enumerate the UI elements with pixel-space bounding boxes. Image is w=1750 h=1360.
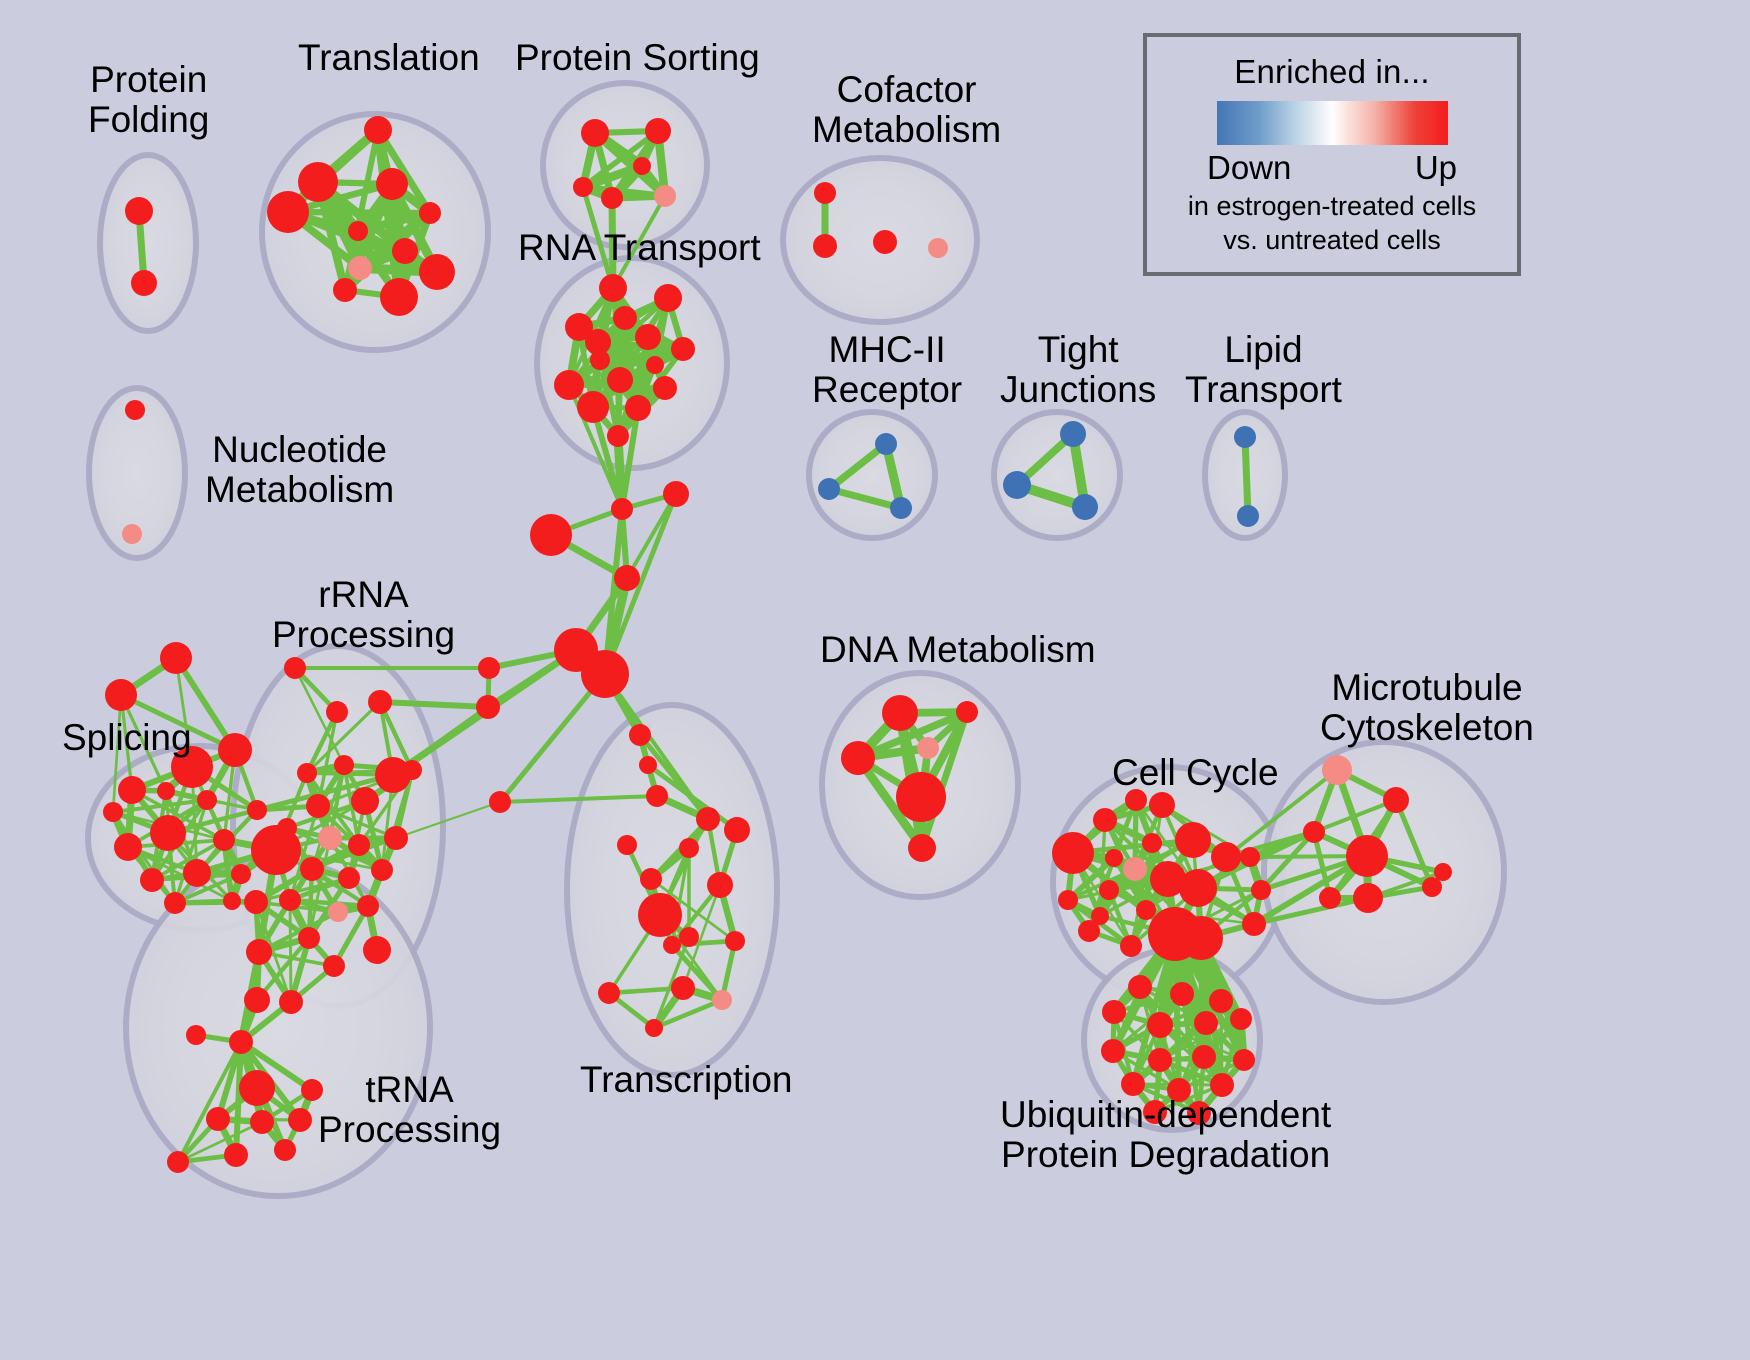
network-edge [1245,437,1248,516]
network-node[interactable] [213,829,235,851]
cluster-label-rrna-processing: rRNA Processing [272,575,455,655]
network-node[interactable] [1346,835,1388,877]
network-node[interactable] [1136,900,1156,920]
network-node[interactable] [244,890,268,914]
network-node[interactable] [167,1151,189,1173]
network-node[interactable] [348,256,372,280]
network-node[interactable] [1303,821,1325,843]
network-node[interactable] [150,815,186,851]
network-node[interactable] [1060,421,1086,447]
network-node[interactable] [645,118,671,144]
network-node[interactable] [653,376,677,400]
network-node[interactable] [707,872,733,898]
network-node[interactable] [250,1110,274,1134]
cluster-label-trna-processing: tRNA Processing [318,1070,501,1150]
network-node[interactable] [638,893,682,937]
network-node[interactable] [1242,912,1266,936]
legend-subtitle-line2: vs. untreated cells [1223,225,1441,255]
network-node[interactable] [633,157,651,175]
network-node[interactable] [223,892,241,910]
network-node[interactable] [246,939,272,965]
network-node[interactable] [371,859,393,881]
network-node[interactable] [581,650,629,698]
network-node[interactable] [1052,832,1094,874]
network-edge [288,212,430,213]
network-node[interactable] [363,936,391,964]
network-node[interactable] [1003,471,1031,499]
network-node[interactable] [679,838,699,858]
network-node[interactable] [274,1139,296,1161]
cluster-label-ubiquitin-protein-degradation: Ubiquitin-dependent Protein Degradation [1000,1095,1331,1175]
network-node[interactable] [1093,808,1117,832]
network-node[interactable] [229,1030,253,1054]
network-node[interactable] [1175,822,1211,858]
network-node[interactable] [814,182,836,204]
network-node[interactable] [1234,426,1256,448]
network-node[interactable] [654,185,676,207]
network-node[interactable] [279,990,303,1014]
network-node[interactable] [1128,975,1152,999]
network-node[interactable] [554,370,584,400]
network-node[interactable] [841,741,875,775]
network-node[interactable] [402,760,422,780]
legend-endpoint-labels: Down Up [1207,149,1457,187]
network-node[interactable] [357,895,379,917]
network-node[interactable] [478,657,500,679]
legend-panel: Enriched in... Down Up in estrogen-treat… [1143,33,1521,276]
network-node[interactable] [725,931,745,951]
network-node[interactable] [601,187,623,209]
cluster-label-nucleotide-metabolism: Nucleotide Metabolism [205,430,394,510]
network-node[interactable] [599,274,627,302]
network-node[interactable] [607,367,633,393]
network-node[interactable] [1147,1012,1173,1038]
network-node[interactable] [1102,1000,1126,1024]
network-node[interactable] [1353,883,1383,913]
network-node[interactable] [696,807,720,831]
cluster-hull-mhc-ii-receptor [809,412,935,538]
network-node[interactable] [376,168,408,200]
network-node[interactable] [284,657,306,679]
network-node[interactable] [218,733,252,767]
network-node[interactable] [267,191,309,233]
cluster-hull-microtubule-cytoskeleton [1264,742,1504,1002]
network-node[interactable] [573,177,593,197]
network-node[interactable] [122,524,142,544]
network-node[interactable] [928,238,948,258]
network-node[interactable] [157,782,175,800]
network-node[interactable] [328,902,348,922]
network-node[interactable] [629,724,651,746]
network-node[interactable] [384,826,408,850]
network-node[interactable] [231,864,251,884]
network-node[interactable] [646,785,668,807]
network-node[interactable] [640,868,662,890]
network-node[interactable] [368,690,392,714]
network-node[interactable] [1209,989,1233,1013]
network-node[interactable] [617,835,637,855]
cluster-label-dna-metabolism: DNA Metabolism [820,630,1096,670]
cluster-label-cofactor-metabolism: Cofactor Metabolism [812,70,1001,150]
network-node[interactable] [364,116,392,144]
cluster-hull-protein-folding [100,155,196,331]
network-node[interactable] [348,834,370,856]
network-node[interactable] [1319,887,1341,909]
network-node[interactable] [164,892,186,914]
network-node[interactable] [1240,847,1260,867]
network-node[interactable] [160,642,192,674]
network-node[interactable] [614,565,640,591]
network-node[interactable] [297,763,317,783]
network-node[interactable] [1148,1048,1172,1072]
network-node[interactable] [1120,935,1142,957]
network-node[interactable] [251,825,301,875]
network-node[interactable] [1179,916,1223,960]
network-node[interactable] [645,1019,663,1037]
network-node[interactable] [140,868,164,892]
network-node[interactable] [917,737,939,759]
network-node[interactable] [679,927,699,947]
network-node[interactable] [1230,1008,1252,1030]
network-node[interactable] [186,1025,206,1045]
network-node[interactable] [625,395,651,421]
network-node[interactable] [326,701,348,723]
network-node[interactable] [813,234,837,258]
network-node[interactable] [125,400,145,420]
network-node[interactable] [334,755,354,775]
network-node[interactable] [1194,1011,1218,1035]
cluster-label-rna-transport: RNA Transport [518,228,761,268]
network-node[interactable] [306,794,330,818]
network-node[interactable] [1078,920,1100,942]
network-node[interactable] [956,701,978,723]
network-node[interactable] [530,514,572,556]
network-node[interactable] [1123,857,1147,881]
network-node[interactable] [663,936,681,954]
network-node[interactable] [239,1070,275,1106]
network-node[interactable] [288,1108,312,1132]
network-node[interactable] [671,976,695,1000]
network-node[interactable] [724,817,750,843]
network-node[interactable] [131,270,157,296]
enrichment-map-figure: Protein FoldingTranslationProtein Sortin… [0,0,1750,1360]
network-node[interactable] [1101,1039,1125,1063]
network-node[interactable] [639,756,657,774]
network-node[interactable] [351,787,379,815]
network-node[interactable] [348,221,368,241]
cluster-label-mhc-ii-receptor: MHC-II Receptor [812,330,962,410]
network-node[interactable] [896,772,946,822]
legend-down-label: Down [1207,149,1291,187]
network-node[interactable] [333,278,357,302]
network-node[interactable] [489,791,511,813]
legend-title: Enriched in... [1234,53,1429,91]
network-node[interactable] [1192,1045,1216,1069]
network-node[interactable] [908,834,936,862]
network-node[interactable] [1233,1049,1255,1071]
network-node[interactable] [114,833,142,861]
network-node[interactable] [873,230,897,254]
cluster-label-splicing: Splicing [62,718,192,758]
network-node[interactable] [635,324,661,350]
network-node[interactable] [882,695,918,731]
network-node[interactable] [392,238,418,264]
network-node[interactable] [646,356,664,374]
network-node[interactable] [1121,1072,1145,1096]
legend-subtitle-line1: in estrogen-treated cells [1188,191,1476,221]
cluster-label-translation: Translation [298,38,480,78]
cluster-label-lipid-transport: Lipid Transport [1185,330,1342,410]
network-node[interactable] [663,481,689,507]
cluster-label-cell-cycle: Cell Cycle [1112,753,1279,793]
network-node[interactable] [1058,890,1078,910]
cluster-label-protein-folding: Protein Folding [88,60,209,140]
network-node[interactable] [244,987,270,1013]
network-node[interactable] [818,478,840,500]
network-node[interactable] [118,776,146,804]
network-node[interactable] [279,889,301,911]
network-node[interactable] [125,197,153,225]
network-node[interactable] [613,306,637,330]
network-node[interactable] [247,800,267,820]
network-node[interactable] [1099,880,1119,900]
network-node[interactable] [654,284,682,312]
network-node[interactable] [419,254,455,290]
network-node[interactable] [300,857,324,881]
network-node[interactable] [298,162,338,202]
network-node[interactable] [1422,877,1442,897]
network-node[interactable] [1072,494,1098,520]
network-node[interactable] [1322,755,1352,785]
network-node[interactable] [206,1107,230,1131]
network-node[interactable] [598,982,620,1004]
network-node[interactable] [671,337,695,361]
network-node[interactable] [183,859,211,887]
network-node[interactable] [890,497,912,519]
network-node[interactable] [1149,792,1175,818]
network-node[interactable] [1170,982,1194,1006]
network-node[interactable] [581,119,609,147]
cluster-label-tight-junctions: Tight Junctions [1000,330,1156,410]
network-node[interactable] [105,679,137,711]
network-node[interactable] [611,498,633,520]
network-node[interactable] [1237,505,1259,527]
network-node[interactable] [419,202,441,224]
network-node[interactable] [1179,869,1217,907]
network-node[interactable] [1251,880,1271,900]
network-node[interactable] [298,927,320,949]
network-node[interactable] [338,867,360,889]
network-edge [290,900,291,1002]
legend-up-label: Up [1415,149,1457,187]
network-node[interactable] [476,695,500,719]
network-node[interactable] [323,955,345,977]
network-node[interactable] [1105,849,1123,867]
network-node[interactable] [577,391,609,423]
legend-color-gradient-bar [1217,101,1448,145]
network-node[interactable] [1142,833,1162,853]
network-node[interactable] [318,826,342,850]
network-node[interactable] [224,1143,248,1167]
network-node[interactable] [1383,787,1409,813]
network-node[interactable] [712,990,732,1010]
cluster-label-transcription: Transcription [580,1060,792,1100]
network-node[interactable] [197,790,217,810]
network-node[interactable] [875,433,897,455]
network-node[interactable] [607,425,629,447]
cluster-label-protein-sorting: Protein Sorting [515,38,760,78]
network-node[interactable] [1211,842,1241,872]
network-node[interactable] [103,802,123,822]
network-node[interactable] [590,350,610,370]
network-node[interactable] [380,278,418,316]
cluster-label-microtubule-cytoskeleton: Microtubule Cytoskeleton [1320,668,1534,748]
